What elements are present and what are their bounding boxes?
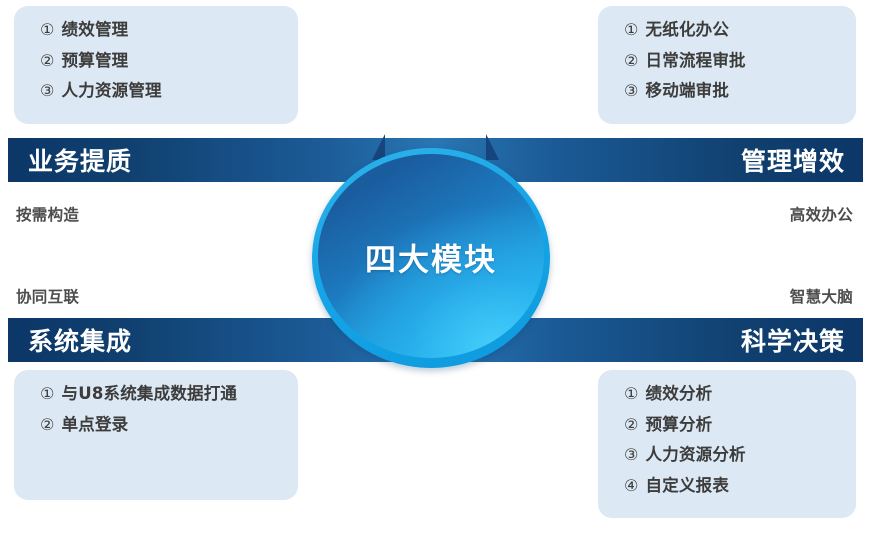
list-item: ②单点登录 bbox=[40, 417, 280, 434]
list-item-number: ③ bbox=[624, 83, 639, 99]
list-item: ②预算管理 bbox=[40, 53, 280, 70]
list-top-left: ①绩效管理 ②预算管理 ③人力资源管理 bbox=[40, 22, 280, 100]
list-item-label: 预算管理 bbox=[62, 51, 129, 70]
list-box-bottom-left: ①与U8系统集成数据打通 ②单点登录 bbox=[14, 370, 298, 500]
list-item-number: ② bbox=[624, 417, 639, 433]
list-item-number: ④ bbox=[624, 478, 639, 494]
list-bottom-left: ①与U8系统集成数据打通 ②单点登录 bbox=[40, 386, 280, 433]
list-item-label: 预算分析 bbox=[646, 415, 713, 434]
list-item-label: 单点登录 bbox=[62, 415, 129, 434]
list-box-top-left: ①绩效管理 ②预算管理 ③人力资源管理 bbox=[14, 6, 298, 124]
center-circle-label: 四大模块 bbox=[312, 235, 550, 280]
caption-top-left: 按需构造 bbox=[16, 203, 79, 225]
list-item-number: ① bbox=[40, 22, 55, 38]
list-box-bottom-right: ①绩效分析 ②预算分析 ③人力资源分析 ④自定义报表 bbox=[598, 370, 856, 518]
list-item: ③人力资源分析 bbox=[624, 447, 838, 464]
list-item: ①绩效分析 bbox=[624, 386, 838, 403]
list-item-number: ② bbox=[40, 417, 55, 433]
banner-title-management-efficiency: 管理增效 bbox=[741, 142, 845, 178]
caption-top-right: 高效办公 bbox=[790, 203, 853, 225]
list-item-number: ① bbox=[40, 386, 55, 402]
list-item-label: 无纸化办公 bbox=[646, 20, 730, 39]
list-item: ①无纸化办公 bbox=[624, 22, 838, 39]
list-item: ②日常流程审批 bbox=[624, 53, 838, 70]
list-item: ②预算分析 bbox=[624, 417, 838, 434]
list-item-label: 移动端审批 bbox=[646, 81, 730, 100]
four-modules-diagram: ①绩效管理 ②预算管理 ③人力资源管理 ①无纸化办公 ②日常流程审批 ③移动端审… bbox=[0, 0, 871, 544]
list-item-number: ③ bbox=[624, 447, 639, 463]
list-item: ④自定义报表 bbox=[624, 478, 838, 495]
list-item-label: 日常流程审批 bbox=[646, 51, 746, 70]
list-item: ①绩效管理 bbox=[40, 22, 280, 39]
list-item: ③人力资源管理 bbox=[40, 83, 280, 100]
list-item-number: ① bbox=[624, 386, 639, 402]
list-item-number: ① bbox=[624, 22, 639, 38]
list-item-label: 自定义报表 bbox=[646, 476, 730, 495]
center-circle: 四大模块 bbox=[312, 148, 550, 368]
caption-bottom-right: 智慧大脑 bbox=[790, 285, 853, 307]
list-item-label: 人力资源分析 bbox=[646, 445, 746, 464]
list-item-label: 人力资源管理 bbox=[62, 81, 162, 100]
caption-bottom-left: 协同互联 bbox=[16, 285, 79, 307]
list-item-label: 与U8系统集成数据打通 bbox=[62, 384, 238, 403]
list-item-number: ③ bbox=[40, 83, 55, 99]
list-item: ③移动端审批 bbox=[624, 83, 838, 100]
list-top-right: ①无纸化办公 ②日常流程审批 ③移动端审批 bbox=[624, 22, 838, 100]
list-box-top-right: ①无纸化办公 ②日常流程审批 ③移动端审批 bbox=[598, 6, 856, 124]
list-bottom-right: ①绩效分析 ②预算分析 ③人力资源分析 ④自定义报表 bbox=[624, 386, 838, 494]
banner-title-scientific-decision: 科学决策 bbox=[741, 322, 845, 358]
list-item-number: ② bbox=[40, 53, 55, 69]
list-item-number: ② bbox=[624, 53, 639, 69]
list-item-label: 绩效分析 bbox=[646, 384, 713, 403]
list-item-label: 绩效管理 bbox=[62, 20, 129, 39]
list-item: ①与U8系统集成数据打通 bbox=[40, 386, 280, 403]
